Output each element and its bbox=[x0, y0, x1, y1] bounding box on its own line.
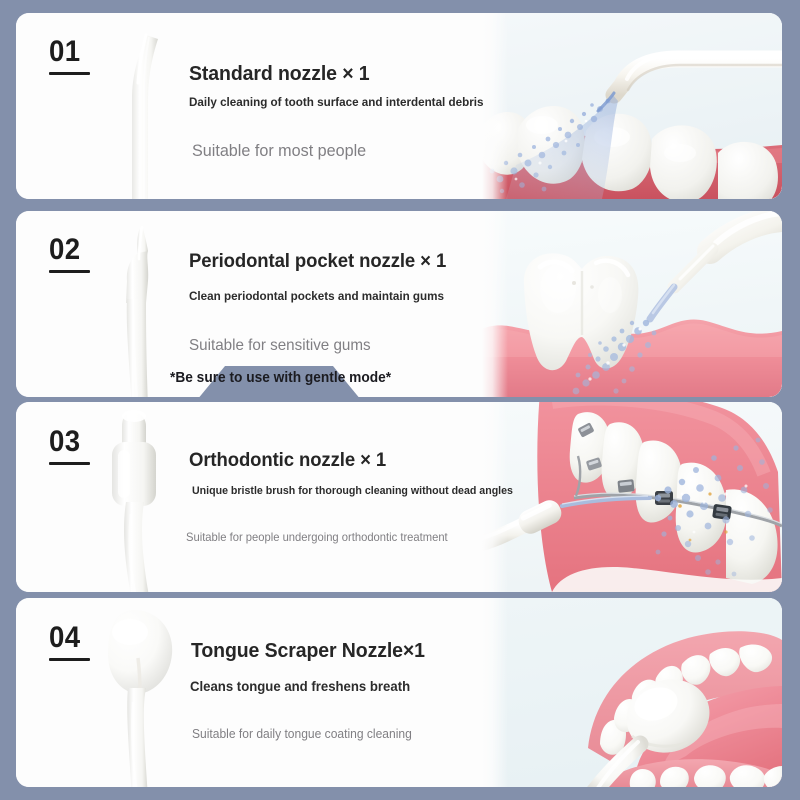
photo-standard-nozzle-spraying-molars bbox=[482, 13, 782, 199]
nozzle-suitable-01: Suitable for most people bbox=[192, 141, 366, 161]
card-number-underline bbox=[49, 270, 90, 273]
nozzle-title-03: Orthodontic nozzle × 1 bbox=[189, 449, 386, 472]
card-number-badge-03: 03 bbox=[49, 427, 90, 465]
orthodontic-brush-nozzle-icon bbox=[102, 402, 222, 592]
nozzle-subtitle-03: Unique bristle brush for thorough cleani… bbox=[192, 485, 513, 497]
card-number: 04 bbox=[49, 623, 87, 653]
photo-orthodontic-nozzle-braces bbox=[482, 402, 782, 592]
card-number: 01 bbox=[49, 37, 87, 67]
card-number: 02 bbox=[49, 235, 87, 265]
nozzle-subtitle-02: Clean periodontal pockets and maintain g… bbox=[189, 289, 444, 303]
photo-periodontal-nozzle-single-tooth bbox=[482, 211, 782, 397]
nozzle-title-02: Periodontal pocket nozzle × 1 bbox=[189, 250, 446, 273]
card-number-underline bbox=[49, 462, 90, 465]
nozzle-title-04: Tongue Scraper Nozzle×1 bbox=[191, 639, 425, 663]
nozzle-card-02[interactable]: 02 bbox=[16, 211, 782, 397]
card-number: 03 bbox=[49, 427, 87, 457]
nozzle-card-03[interactable]: 03 bbox=[16, 402, 782, 592]
card-number-underline bbox=[49, 658, 90, 661]
nozzle-warning-02: *Be sure to use with gentle mode* bbox=[170, 370, 391, 386]
nozzle-subtitle-04: Cleans tongue and freshens breath bbox=[190, 678, 410, 694]
nozzle-suitable-02: Suitable for sensitive gums bbox=[189, 337, 371, 355]
nozzle-subtitle-01: Daily cleaning of tooth surface and inte… bbox=[189, 95, 483, 109]
card-surface: 03 bbox=[16, 402, 782, 592]
photo-tongue-scraper-in-mouth-model bbox=[482, 598, 782, 787]
card-number-underline bbox=[49, 72, 90, 75]
card-number-badge-02: 02 bbox=[49, 235, 90, 273]
nozzle-suitable-04: Suitable for daily tongue coating cleani… bbox=[192, 727, 412, 741]
infographic-page: 01 bbox=[0, 0, 800, 800]
card-number-badge-04: 04 bbox=[49, 623, 90, 661]
card-surface: 02 bbox=[16, 211, 782, 397]
card-number-badge-01: 01 bbox=[49, 37, 90, 75]
nozzle-suitable-03: Suitable for people undergoing orthodont… bbox=[186, 530, 448, 544]
nozzle-title-01: Standard nozzle × 1 bbox=[189, 62, 370, 86]
